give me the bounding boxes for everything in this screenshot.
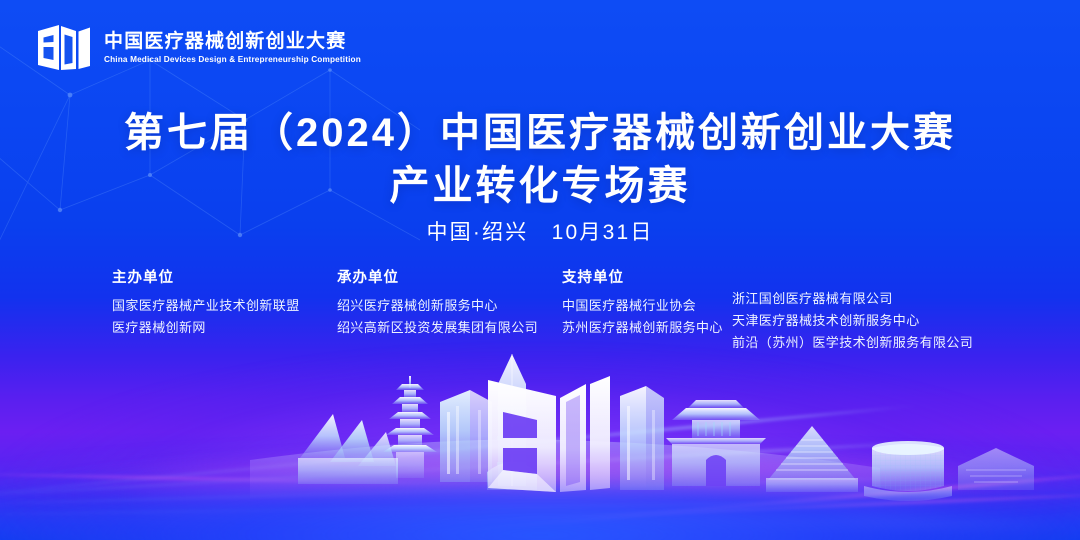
organizer-heading: 支持单位 [562, 266, 732, 287]
brand-name-cn: 中国医疗器械创新创业大赛 [104, 31, 369, 53]
organizer-heading: 承办单位 [337, 266, 562, 287]
terraced-building-icon [958, 448, 1034, 490]
poster-canvas: 中国医疗器械创新创业大赛 China Medical Devices Desig… [0, 0, 1080, 540]
brand-logo: 中国医疗器械创新创业大赛 China Medical Devices Desig… [36, 22, 369, 74]
organizer-item: 绍兴医疗器械创新服务中心 [337, 295, 562, 317]
organizer-heading: 主办单位 [112, 266, 337, 287]
logo-monument-icon [488, 376, 610, 492]
organizer-item: 浙江国创医疗器械有限公司 [732, 288, 973, 310]
organizer-item: 医疗器械创新网 [112, 317, 337, 339]
skyscraper-icon [440, 390, 492, 482]
organizer-column-support: 支持单位 中国医疗器械行业协会 苏州医疗器械创新服务中心 [562, 266, 732, 339]
skyscraper-icon [620, 386, 664, 490]
title-line-1: 第七届（2024）中国医疗器械创新创业大赛 [0, 108, 1080, 159]
opera-house-icon [298, 414, 398, 484]
stadium-icon [864, 441, 952, 501]
organizer-item: 中国医疗器械行业协会 [562, 295, 732, 317]
organizer-column-host: 主办单位 国家医疗器械产业技术创新联盟 医疗器械创新网 [112, 266, 337, 339]
gate-tower-icon [666, 400, 766, 486]
organizer-item: 绍兴高新区投资发展集团有限公司 [337, 317, 562, 339]
open-book-door-logo-icon [36, 22, 92, 74]
organizer-column-organizer: 承办单位 绍兴医疗器械创新服务中心 绍兴高新区投资发展集团有限公司 [337, 266, 562, 339]
title-line-2: 产业转化专场赛 [0, 161, 1080, 212]
city-skyline-illustration [0, 340, 1080, 540]
organizer-item: 国家医疗器械产业技术创新联盟 [112, 295, 337, 317]
brand-name-en: China Medical Devices Design & Entrepren… [104, 55, 361, 64]
organizer-item: 天津医疗器械技术创新服务中心 [732, 310, 973, 332]
title-block: 第七届（2024）中国医疗器械创新创业大赛 产业转化专场赛 [0, 108, 1080, 212]
place-and-date: 中国·绍兴 10月31日 [0, 216, 1080, 246]
organizer-item: 苏州医疗器械创新服务中心 [562, 317, 732, 339]
